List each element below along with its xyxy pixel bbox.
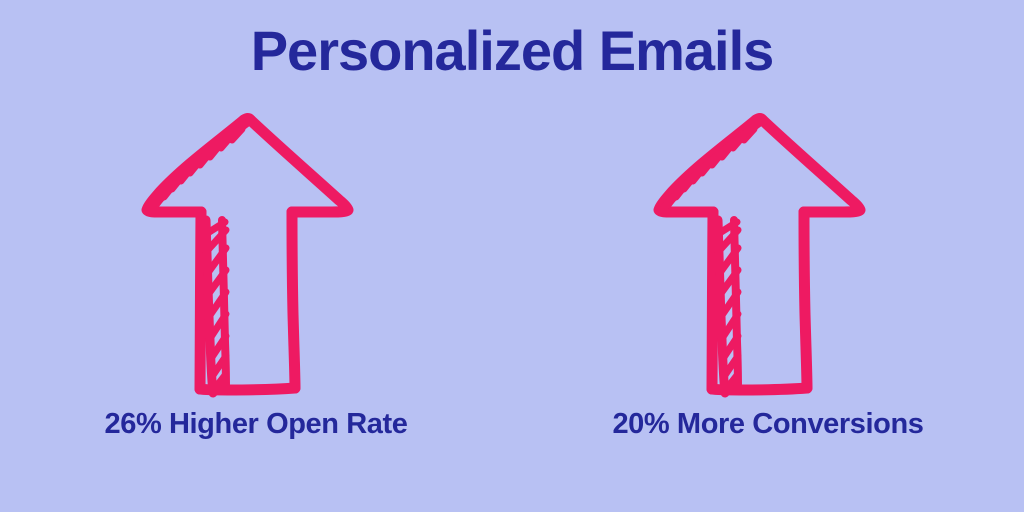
upward-arrow-icon [638, 100, 898, 400]
infographic-poster: Personalized Emails [0, 0, 1024, 512]
stats-row: 26% Higher Open Rate [0, 100, 1024, 460]
stat-caption: 26% Higher Open Rate [104, 408, 407, 441]
stat-column-conversions: 20% More Conversions [538, 100, 998, 441]
stat-caption: 20% More Conversions [612, 408, 923, 441]
page-title: Personalized Emails [0, 20, 1024, 82]
stat-column-open-rate: 26% Higher Open Rate [26, 100, 486, 441]
upward-arrow-icon [126, 100, 386, 400]
